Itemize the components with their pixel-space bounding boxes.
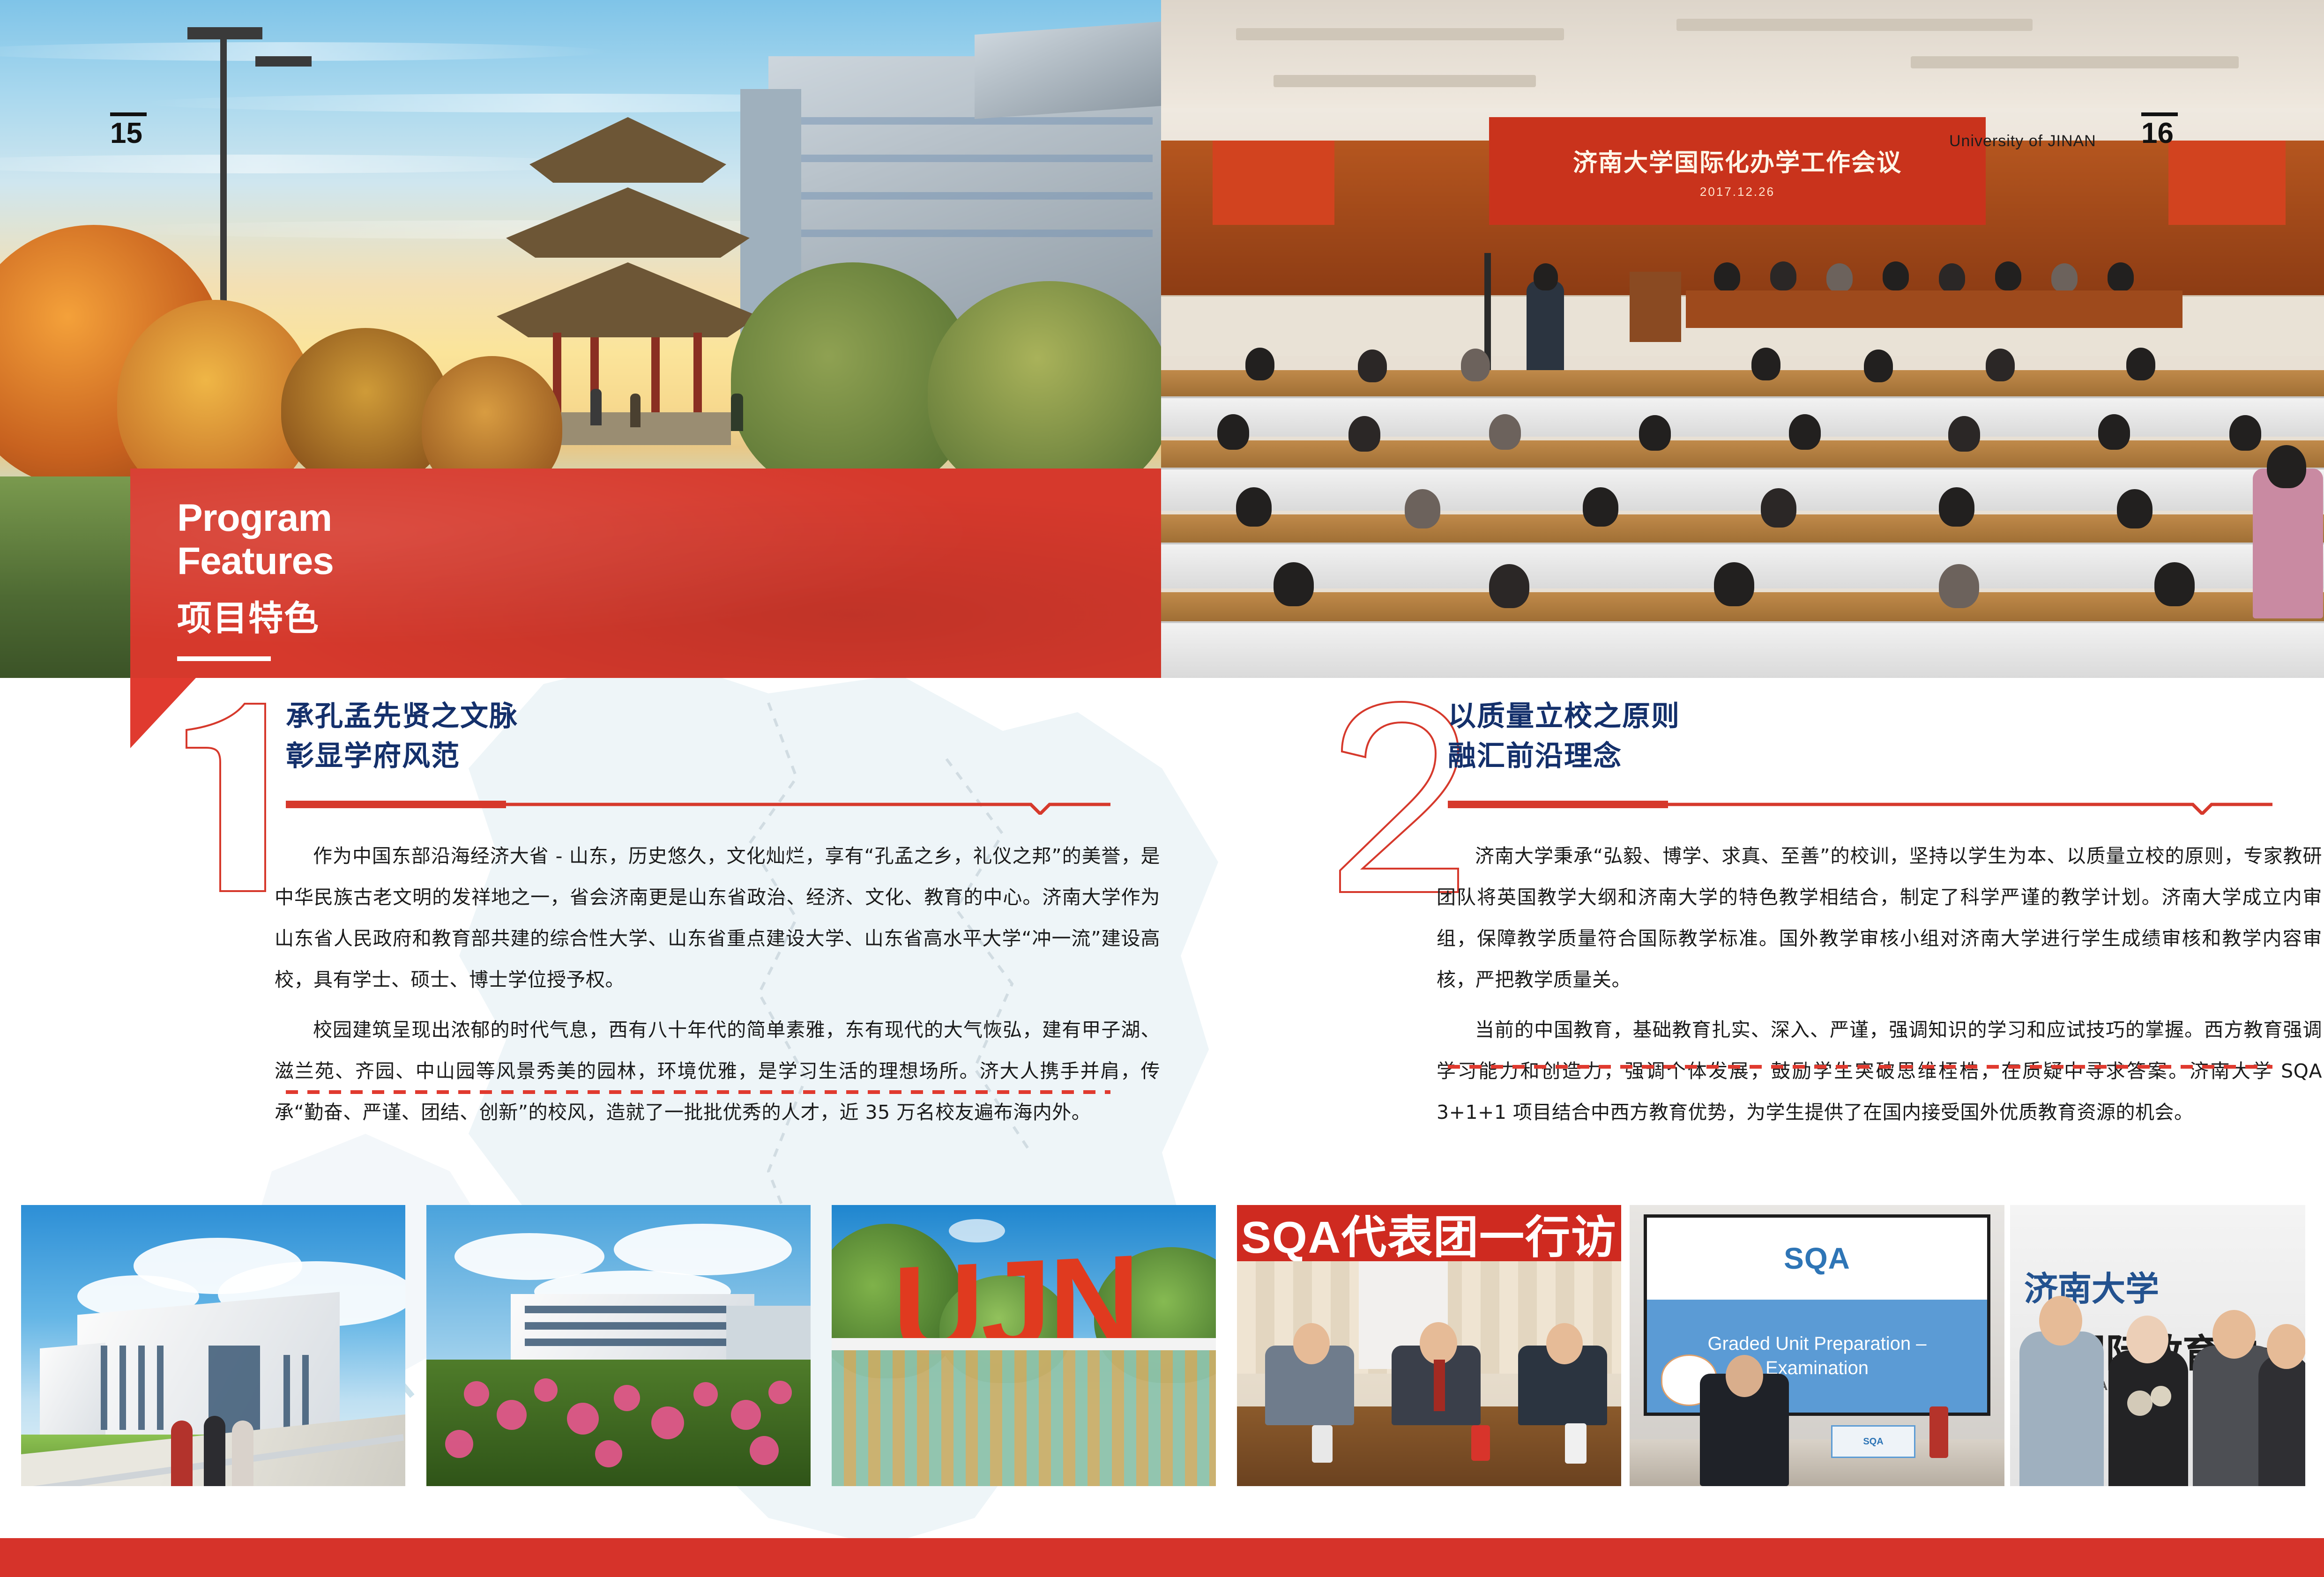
strip-photo-sqa-delegation: SQA代表团一行访 xyxy=(1237,1205,1621,1486)
program-features-banner: Program Features 项目特色 xyxy=(130,469,1161,678)
feature-paragraph: 济南大学秉承“弘毅、博学、求真、至善”的校训，坚持以学生为本、以质量立校的原则，… xyxy=(1437,835,2322,1001)
feature-heading-1-line1: 承孔孟先贤之文脉 xyxy=(286,697,1171,736)
sqa-desk-card: SQA xyxy=(1831,1425,1915,1458)
feature-paragraph: 校园建筑呈现出浓郁的时代气息，西有八十年代的简单素雅，东有现代的大气恢弘，建有甲… xyxy=(275,1009,1160,1133)
feature-heading-2-line1: 以质量立校之原则 xyxy=(1448,697,2324,736)
feature-dashed-rule-2 xyxy=(1448,1065,2272,1069)
page-number-left: 15 xyxy=(110,112,147,148)
content-columns: 承孔孟先贤之文脉 彰显学府风范 作为中国东部沿海经济大省 - 山东，历史悠久，文… xyxy=(0,678,2324,1193)
page-number-rule xyxy=(2141,112,2178,116)
side-poster-left xyxy=(1213,141,1334,225)
page-number-left-value: 15 xyxy=(110,119,147,148)
projector-screen: SQA Graded Unit Preparation – Examinatio… xyxy=(1644,1214,1990,1416)
feature-column-2: 以质量立校之原则 融汇前沿理念 济南大学秉承“弘毅、博学、求真、至善”的校训，坚… xyxy=(1335,678,2324,1193)
side-poster-right xyxy=(2168,141,2286,225)
sqa-delegation-banner: SQA代表团一行访 xyxy=(1237,1205,1621,1261)
feature-body-1: 作为中国东部沿海经济大省 - 山东，历史悠久，文化灿烂，享有“孔孟之乡，礼仪之邦… xyxy=(275,835,1160,1133)
strip-photo-ujn-sculpture: UJN xyxy=(832,1205,1216,1486)
page-number-right: 16 xyxy=(2141,112,2178,148)
wall-sign-cn-line1: 济南大学 xyxy=(2024,1261,2159,1310)
strip-photo-campus-garden xyxy=(426,1205,811,1486)
feature-paragraph: 作为中国东部沿海经济大省 - 山东，历史悠久，文化灿烂，享有“孔孟之乡，礼仪之邦… xyxy=(275,835,1160,1001)
photo-strip: UJN SQA代表团一行访 SQA xyxy=(0,1205,2324,1486)
strip-photo-teaching-building xyxy=(21,1205,405,1486)
banner-title-en-line1: Program xyxy=(177,497,334,540)
feature-body-2: 济南大学秉承“弘毅、博学、求真、至善”的校训，坚持以学生为本、以质量立校的原则，… xyxy=(1437,835,2322,1133)
conference-banner-date: 2017.12.26 xyxy=(1700,185,1775,199)
strip-photo-graded-unit-slide: SQA Graded Unit Preparation – Examinatio… xyxy=(1630,1205,2004,1486)
slide-line-1: Graded Unit Preparation – xyxy=(1708,1332,1927,1356)
banner-title-en-line2: Features xyxy=(177,540,334,583)
page-number-rule xyxy=(110,112,147,116)
feature-heading-2: 以质量立校之原则 融汇前沿理念 xyxy=(1448,697,2324,776)
feature-divider-1 xyxy=(286,796,1110,815)
conference-banner: 济南大学国际化办学工作会议 2017.12.26 xyxy=(1489,117,1986,225)
feature-column-1: 承孔孟先贤之文脉 彰显学府风范 作为中国东部沿海经济大省 - 山东，历史悠久，文… xyxy=(173,678,1171,1193)
hero-photo-conference: 济南大学国际化办学工作会议 2017.12.26 xyxy=(1161,0,2324,678)
feature-heading-1-line2: 彰显学府风范 xyxy=(286,736,1171,776)
feature-divider-2 xyxy=(1448,796,2272,815)
university-label: University of JINAN xyxy=(1949,132,2096,150)
page-number-right-value: 16 xyxy=(2141,119,2178,148)
sqa-logo-text: SQA xyxy=(1784,1241,1850,1276)
feature-paragraph: 当前的中国教育，基础教育扎实、深入、严谨，强调知识的学习和应试技巧的掌握。西方教… xyxy=(1437,1009,2322,1133)
feature-dashed-rule-1 xyxy=(286,1090,1110,1094)
feature-heading-2-line2: 融汇前沿理念 xyxy=(1448,736,2324,776)
footer-bar xyxy=(0,1538,2324,1577)
strip-photo-group-sqa-centre: 济南大学 A 国际教育中心 INTERNATIONAL EDUCATION xyxy=(2010,1205,2305,1486)
banner-title-cn: 项目特色 xyxy=(177,590,334,640)
conference-banner-title: 济南大学国际化办学工作会议 xyxy=(1573,143,1902,178)
banner-underline xyxy=(177,656,271,661)
brochure-page: 济南大学国际化办学工作会议 2017.12.26 xyxy=(0,0,2324,1577)
feature-heading-1: 承孔孟先贤之文脉 彰显学府风范 xyxy=(286,697,1171,776)
